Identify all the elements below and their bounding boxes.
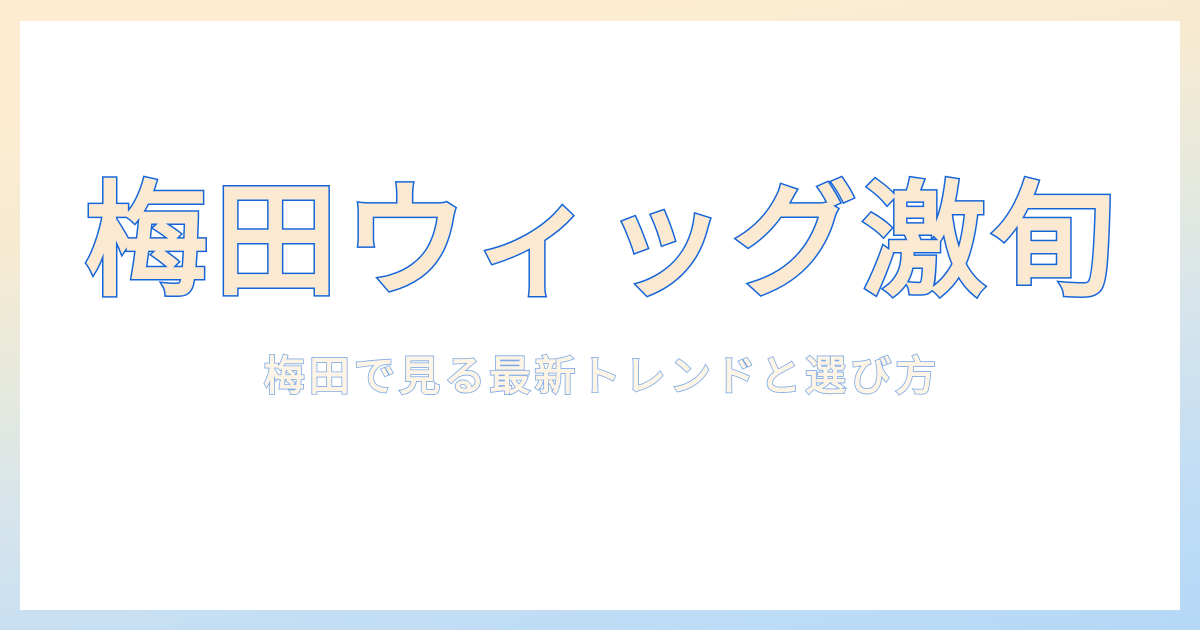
og-image-card: 梅田ウィッグ激旬 梅田で見る最新トレンドと選び方 [0, 0, 1200, 630]
headline-block: 梅田ウィッグ激旬 梅田で見る最新トレンドと選び方 [20, 169, 1180, 403]
page-subtitle: 梅田で見る最新トレンドと選び方 [20, 351, 1180, 402]
white-content-panel: 梅田ウィッグ激旬 梅田で見る最新トレンドと選び方 [20, 21, 1180, 610]
page-title: 梅田ウィッグ激旬 [20, 169, 1180, 315]
